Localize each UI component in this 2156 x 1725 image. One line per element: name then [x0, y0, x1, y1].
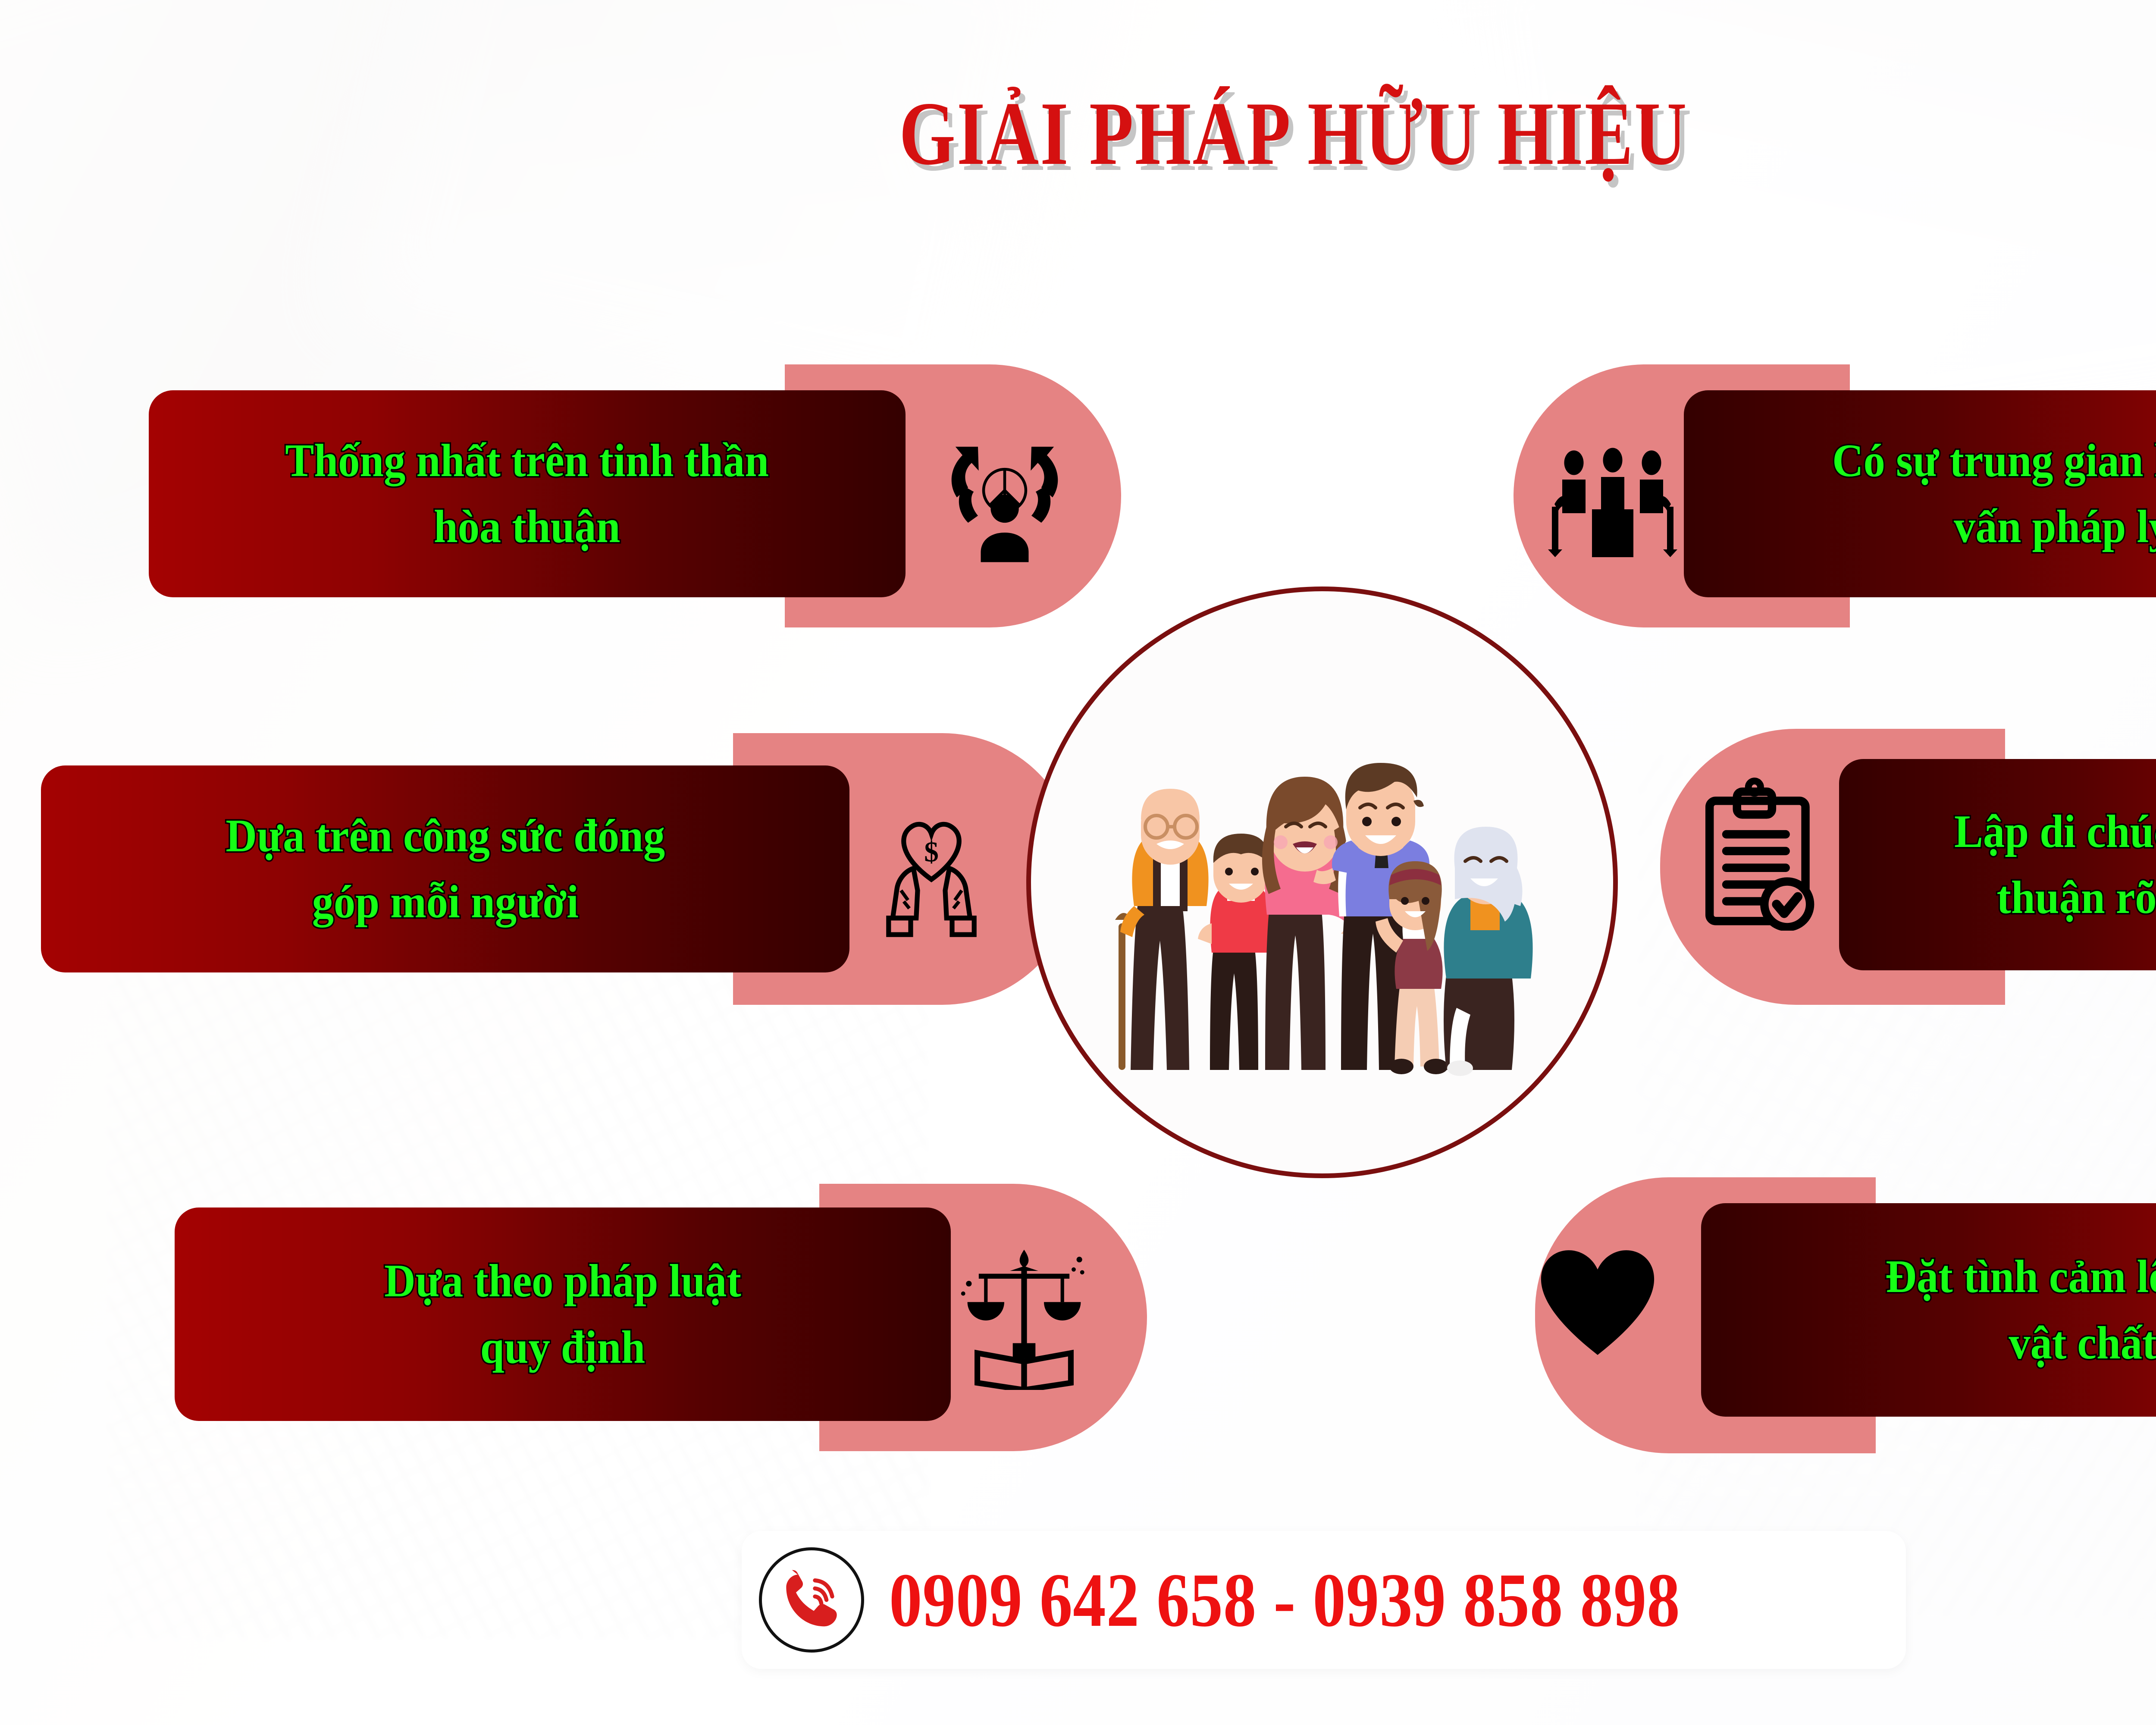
contact-bar[interactable]: 0909 642 658 - 0939 858 898	[742, 1531, 1906, 1669]
card-mediation-line2: vấn pháp lý	[1832, 494, 2156, 560]
card-harmony[interactable]: Thống nhất trên tinh thần hòa thuận	[149, 390, 906, 597]
card-law-based-line1: Dựa theo pháp luật	[384, 1248, 741, 1314]
family-group-illustration	[1078, 665, 1566, 1122]
card-mediation[interactable]: Có sự trung gian hoặc tư vấn pháp lý	[1684, 390, 2156, 597]
family-circle	[1026, 586, 1618, 1178]
card-mediation-text: Có sự trung gian hoặc tư vấn pháp lý	[1832, 428, 2156, 560]
phone-ringing-icon	[759, 1547, 864, 1653]
card-law-based-line2: quy định	[384, 1314, 741, 1380]
meeting-table-icon	[1539, 431, 1686, 565]
card-law-based[interactable]: Dựa theo pháp luật quy định	[175, 1207, 951, 1421]
card-harmony-line1: Thống nhất trên tinh thần	[285, 428, 769, 494]
card-mediation-line1: Có sự trung gian hoặc tư	[1832, 428, 2156, 494]
card-will-document-line1: Lập di chúc, văn bản thỏa	[1954, 799, 2156, 865]
card-harmony-text: Thống nhất trên tinh thần hòa thuận	[285, 428, 769, 560]
card-contribution-line1: Dựa trên công sức đóng	[226, 803, 665, 869]
svg-text:$: $	[924, 836, 939, 868]
card-contribution[interactable]: Dựa trên công sức đóng góp mỗi người	[41, 765, 849, 972]
card-will-document-text: Lập di chúc, văn bản thỏa thuận rõ ràng …	[1954, 799, 2156, 931]
card-emotion-first[interactable]: Đặt tình cảm lên trên vật chất	[1701, 1203, 2156, 1417]
peace-people-icon	[918, 420, 1091, 576]
card-will-document-line2: thuận rõ ràng từ sớm	[1954, 865, 2156, 931]
card-emotion-first-line1: Đặt tình cảm lên trên	[1885, 1244, 2156, 1310]
card-contribution-line2: góp mỗi người	[226, 869, 665, 935]
phone-number-text[interactable]: 0909 642 658 - 0939 858 898	[889, 1556, 1680, 1644]
infographic-canvas: GIẢI PHÁP HỮU HIỆU Thống nhất trên tinh …	[0, 0, 2156, 1725]
card-harmony-line2: hòa thuận	[285, 494, 769, 560]
heart-icon	[1533, 1238, 1662, 1367]
card-contribution-text: Dựa trên công sức đóng góp mỗi người	[226, 803, 665, 935]
card-will-document[interactable]: Lập di chúc, văn bản thỏa thuận rõ ràng …	[1839, 759, 2156, 970]
hands-holding-money-heart-icon: $	[852, 789, 1011, 953]
card-emotion-first-line2: vật chất	[1885, 1310, 2156, 1376]
scales-book-icon	[942, 1229, 1106, 1402]
card-emotion-first-text: Đặt tình cảm lên trên vật chất	[1885, 1244, 2156, 1376]
card-law-based-text: Dựa theo pháp luật quy định	[384, 1248, 741, 1380]
clipboard-check-icon	[1690, 768, 1837, 940]
page-title: GIẢI PHÁP HỮU HIỆU	[259, 86, 2156, 182]
